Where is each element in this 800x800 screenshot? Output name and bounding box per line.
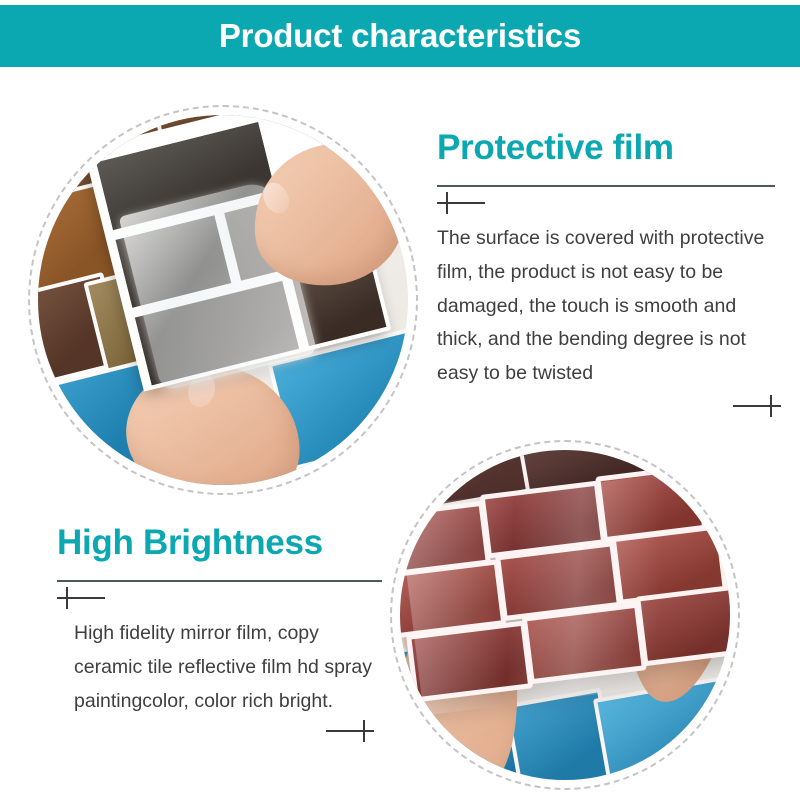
photo-protective-film (38, 115, 408, 485)
page-header-banner: Product characteristics (0, 5, 800, 67)
section-body-high-brightness: High fidelity mirror film, copy ceramic … (74, 617, 374, 718)
photo-high-brightness (400, 450, 730, 780)
marker-row-bottom (437, 395, 781, 417)
page-title: Product characteristics (219, 17, 581, 55)
plus-marker-icon (733, 405, 781, 407)
plus-marker-icon (437, 202, 485, 204)
tile-swatch (406, 620, 533, 702)
plus-marker-icon (326, 730, 374, 732)
marker-row-top (57, 587, 387, 609)
tile-swatch (635, 585, 730, 667)
tile-sticker-sheet (400, 471, 722, 716)
section-title-protective-film: Protective film (437, 128, 782, 168)
marker-row-bottom (74, 720, 374, 742)
section-high-brightness: High Brightness High fidelity mirror fil… (57, 523, 387, 742)
plus-marker-icon (57, 597, 105, 599)
tile-swatch (522, 602, 647, 684)
section-divider (437, 185, 775, 187)
section-title-high-brightness: High Brightness (57, 523, 387, 563)
section-protective-film: Protective film The surface is covered w… (437, 128, 782, 417)
section-divider (57, 580, 382, 582)
section-body-protective-film: The surface is covered with protective f… (437, 222, 781, 391)
marker-row-top (437, 192, 782, 214)
